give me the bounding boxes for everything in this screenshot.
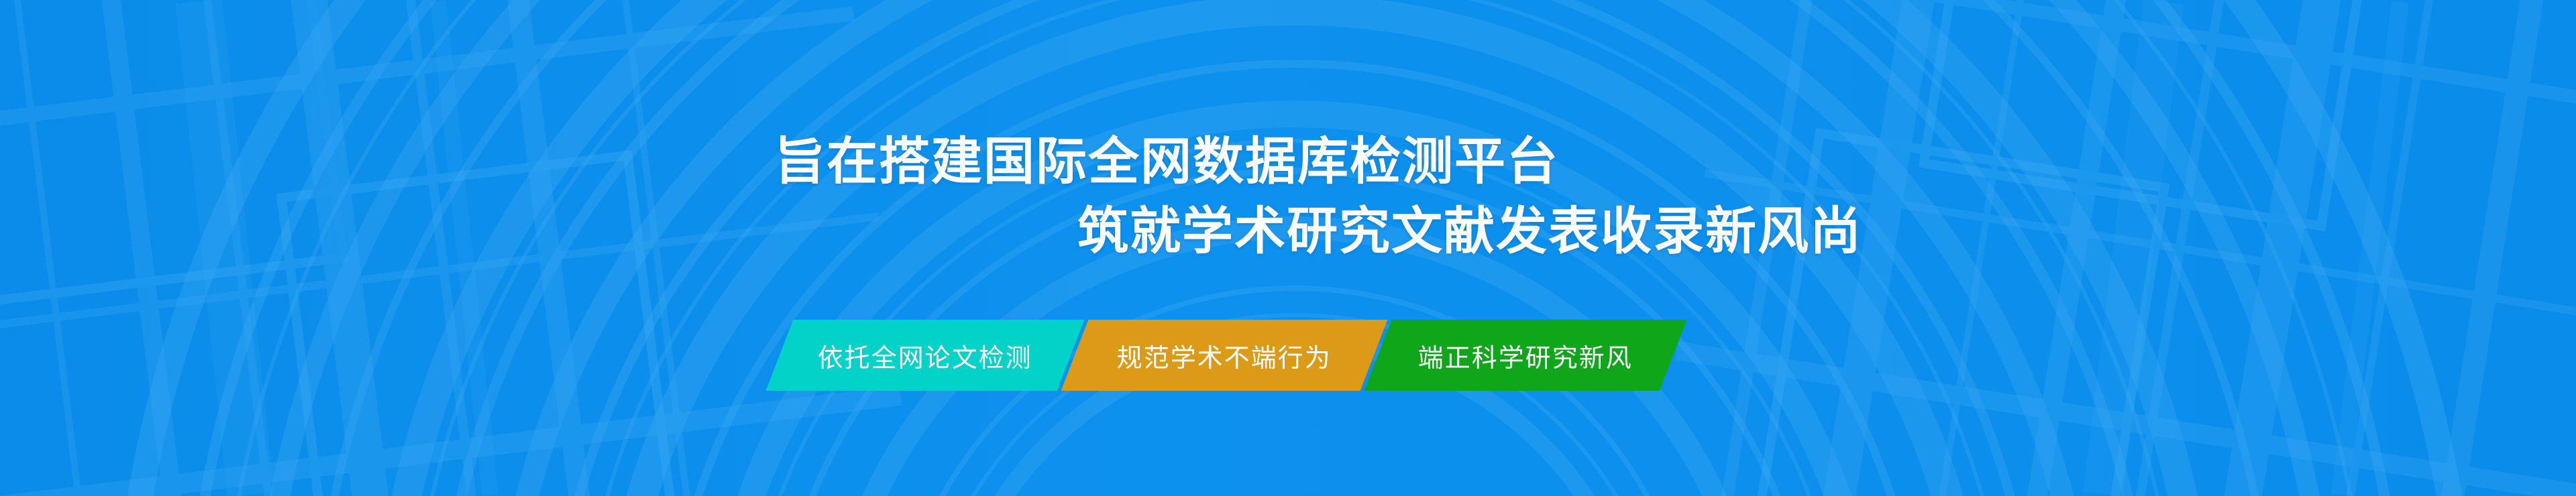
feature-tag-strip: 依托全网论文检测 规范学术不端行为 端正科学研究新风 xyxy=(780,320,1673,391)
feature-tag-2-label: 规范学术不端行为 xyxy=(1117,337,1332,374)
feature-tag-2[interactable]: 规范学术不端行为 xyxy=(1061,320,1388,391)
feature-tag-1[interactable]: 依托全网论文检测 xyxy=(766,320,1085,391)
headline-block: 旨在搭建国际全网数据库检测平台 筑就学术研究文献发表收录新风尚 xyxy=(0,127,2576,267)
hero-banner: 旨在搭建国际全网数据库检测平台 筑就学术研究文献发表收录新风尚 依托全网论文检测… xyxy=(0,0,2576,496)
feature-tag-1-label: 依托全网论文检测 xyxy=(818,337,1032,374)
feature-tag-3[interactable]: 端正科学研究新风 xyxy=(1364,320,1687,391)
headline-line-1: 旨在搭建国际全网数据库检测平台 xyxy=(774,127,2576,197)
headline-line-2: 筑就学术研究文献发表收录新风尚 xyxy=(1077,197,2576,267)
feature-tag-3-label: 端正科学研究新风 xyxy=(1418,337,1633,374)
